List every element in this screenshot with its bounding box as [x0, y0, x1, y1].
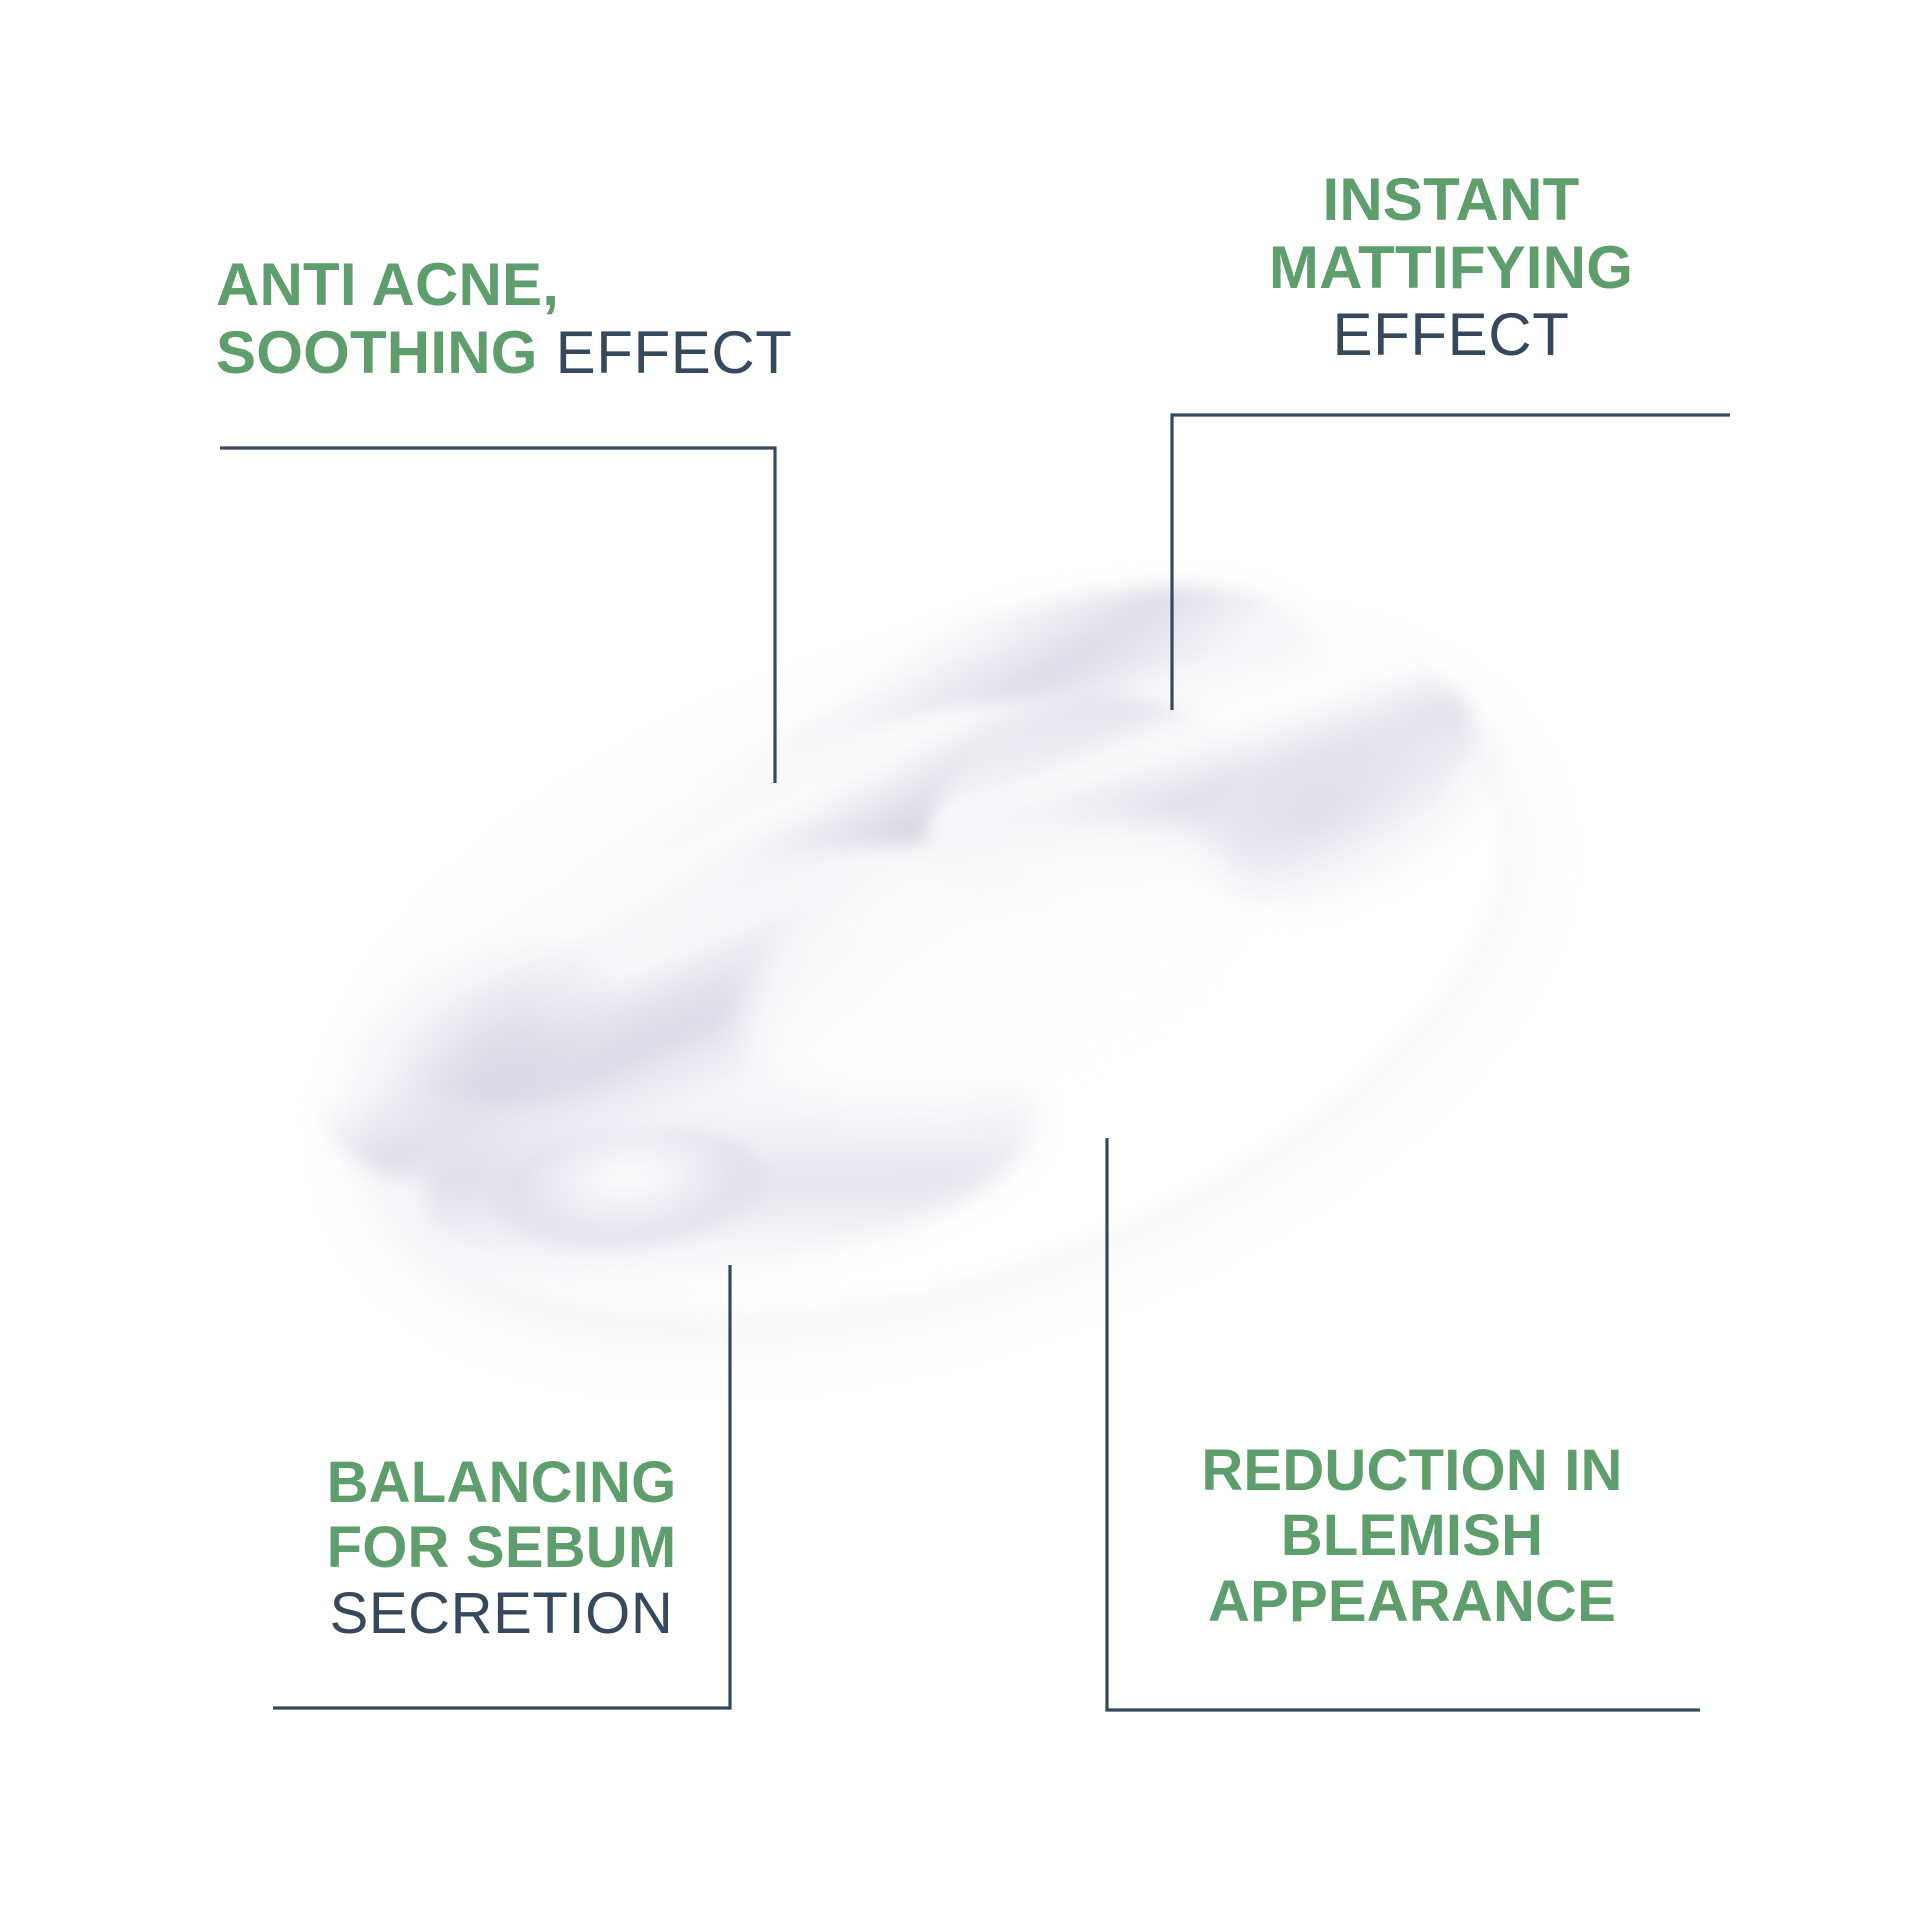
callout-bl-line2: FOR SEBUM [273, 1517, 730, 1578]
callout-tr-line2: MATTIFYING [1172, 236, 1730, 300]
callout-tr-line3: EFFECT [1172, 303, 1730, 367]
callout-br-line1: REDUCTION IN [1107, 1440, 1717, 1501]
callout-balancing-sebum: BALANCING FOR SEBUM SECRETION [273, 1452, 730, 1648]
callout-bl-line3: SECRETION [273, 1583, 730, 1644]
cream-swatch-image [300, 600, 1620, 1400]
callout-instant-mattifying: INSTANT MATTIFYING EFFECT [1172, 168, 1730, 371]
callout-tl-line3: EFFECT [556, 319, 793, 386]
callout-bl-line1: BALANCING [273, 1452, 730, 1513]
callout-blemish-reduction: REDUCTION IN BLEMISH APPEARANCE [1107, 1440, 1717, 1636]
callout-tl-line2: SOOTHING [216, 319, 538, 386]
callout-anti-acne-soothing: ANTI ACNE, SOOTHINGEFFECT [216, 253, 793, 388]
infographic-canvas: ANTI ACNE, SOOTHINGEFFECT INSTANT MATTIF… [0, 0, 1920, 1920]
callout-br-line3: APPEARANCE [1107, 1571, 1717, 1632]
callout-tl-line1: ANTI ACNE, [216, 251, 559, 318]
callout-br-line2: BLEMISH [1107, 1505, 1717, 1566]
callout-tr-line1: INSTANT [1172, 168, 1730, 232]
